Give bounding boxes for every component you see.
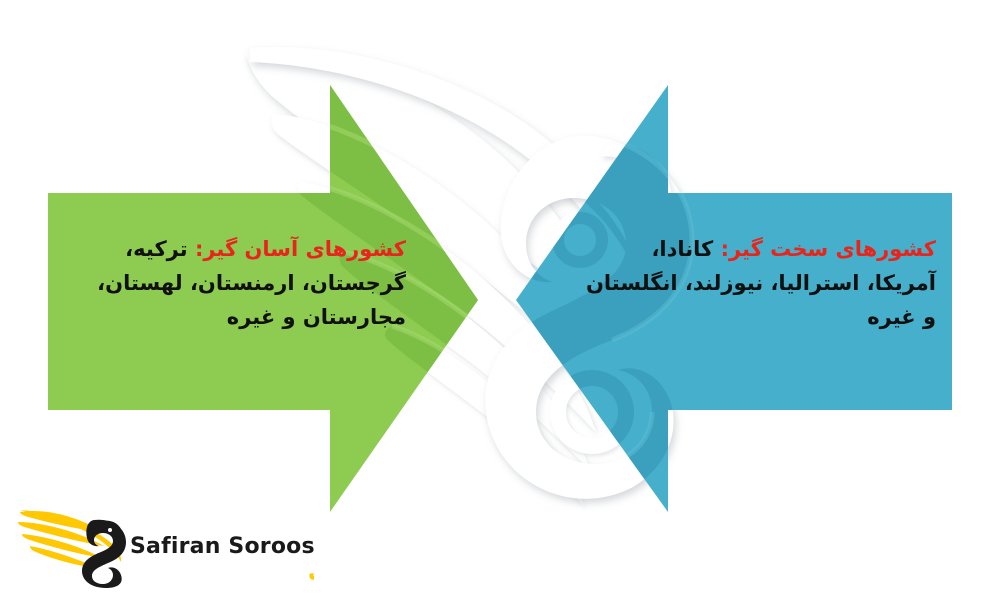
safiran-soroosh-saadat-logo: Safiran Soroosh Saadat سفیران سروش سعادت: [18, 506, 314, 588]
left-panel-text: کشورهای آسان گیر: ترکیه، گرجستان، ارمنست…: [56, 232, 406, 334]
logo-latin-text: Safiran Soroosh Saadat: [130, 534, 314, 559]
right-panel-text: کشورهای سخت گیر: کانادا، آمریکا، استرالی…: [584, 232, 936, 334]
logo-persian-text: سفیران سروش سعادت: [308, 561, 314, 586]
right-panel-heading: کشورهای سخت گیر:: [721, 237, 936, 261]
left-panel-heading: کشورهای آسان گیر:: [195, 237, 406, 261]
infographic-canvas: کشورهای آسان گیر: ترکیه، گرجستان، ارمنست…: [0, 0, 1000, 600]
